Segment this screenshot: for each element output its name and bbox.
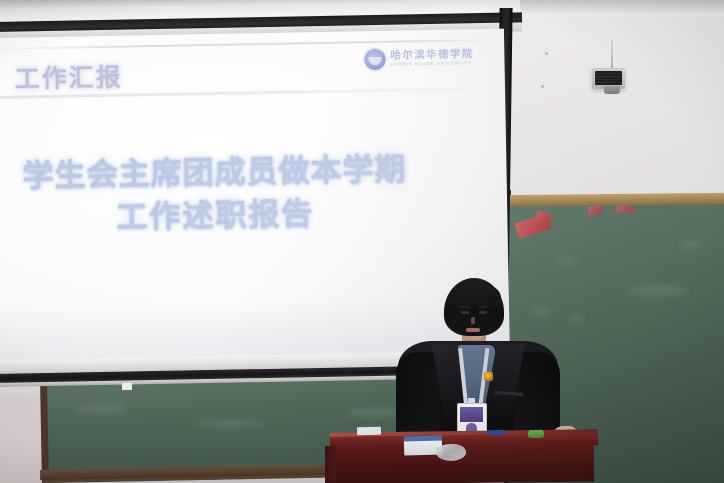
pen-icon: [487, 430, 506, 436]
wall-mark: [545, 52, 548, 55]
slide-title-line-1: 学生会主席团成员做本学期: [0, 148, 435, 199]
slide-title-line-2: 工作述职报告: [0, 191, 436, 242]
classroom-presentation-scene: 工作汇报 哈尔滨华德学院 HARBIN HUADE UNIVERSITY 学生会…: [0, 0, 724, 483]
wall-mark: [541, 85, 544, 88]
speaker-bracket: [604, 86, 620, 94]
paper-scrap: [616, 204, 635, 214]
presenter-hair-fringe: [449, 283, 501, 308]
slide-title: 学生会主席团成员做本学期 工作述职报告: [0, 148, 436, 243]
logo-text-block: 哈尔滨华德学院 HARBIN HUADE UNIVERSITY: [390, 49, 474, 67]
presenter-nose: [471, 317, 475, 324]
chalkboard-wood-trim: [508, 193, 724, 206]
speaker-grille: [595, 71, 622, 85]
speaker-mount-arm: [611, 40, 613, 70]
presenter-eyebrow-right: [478, 306, 488, 308]
chalk-smudge: [678, 241, 702, 248]
presenter-eyebrow-left: [460, 306, 470, 308]
chalk-smudge: [570, 316, 584, 321]
right-wall-panel: [505, 0, 724, 205]
marker-icon: [528, 430, 544, 439]
slide-logo: 哈尔滨华德学院 HARBIN HUADE UNIVERSITY: [364, 47, 474, 70]
chalk-smudge: [197, 420, 267, 428]
badge-header-band: [460, 407, 483, 422]
podium-card-band: [404, 436, 442, 442]
paper-scrap: [587, 205, 602, 216]
slide-kicker-text: 工作汇报: [14, 58, 123, 96]
screen-rail-clip: [122, 383, 132, 390]
logo-name-en: HARBIN HUADE UNIVERSITY: [391, 60, 474, 67]
podium-paper-left: [357, 427, 381, 435]
ceiling-band: [490, 0, 724, 16]
presenter-mouth: [466, 328, 480, 332]
chalk-smudge: [532, 308, 550, 314]
chalk-smudge: [628, 286, 688, 296]
lapel-pin-icon: [484, 372, 493, 381]
chalk-smudge: [76, 404, 126, 413]
presenter-eye-left: [461, 311, 469, 314]
projection-screen: 工作汇报 哈尔滨华德学院 HARBIN HUADE UNIVERSITY 学生会…: [0, 29, 510, 368]
university-seal-icon: [364, 49, 385, 70]
chalk-smudge: [558, 258, 578, 264]
presenter-eye-right: [479, 311, 487, 314]
